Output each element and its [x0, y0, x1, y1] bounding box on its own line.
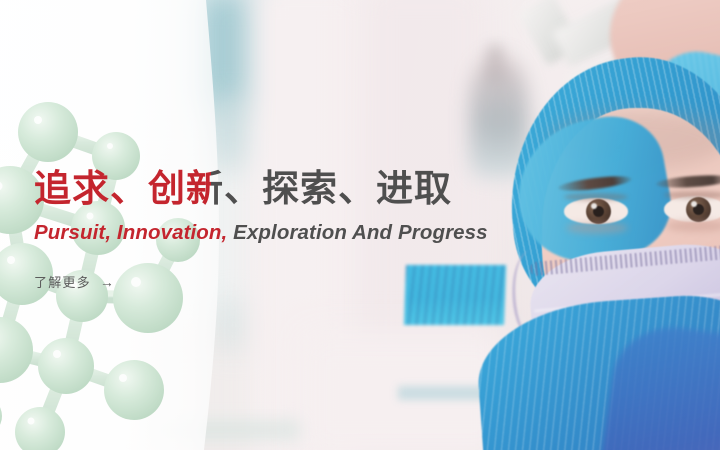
hero-copy: 追求、创新、探索、进取 Pursuit, Innovation, Explora… [34, 166, 594, 292]
hero-banner: 追求、创新、探索、进取 Pursuit, Innovation, Explora… [0, 0, 720, 450]
page-title: 追求、创新、探索、进取 [34, 166, 594, 212]
learn-more-button[interactable]: 了解更多 → [34, 272, 115, 291]
arrow-right-icon: → [100, 275, 115, 289]
learn-more-label: 了解更多 [34, 272, 91, 291]
page-subtitle: Pursuit, Innovation, Exploration And Pro… [34, 221, 594, 245]
